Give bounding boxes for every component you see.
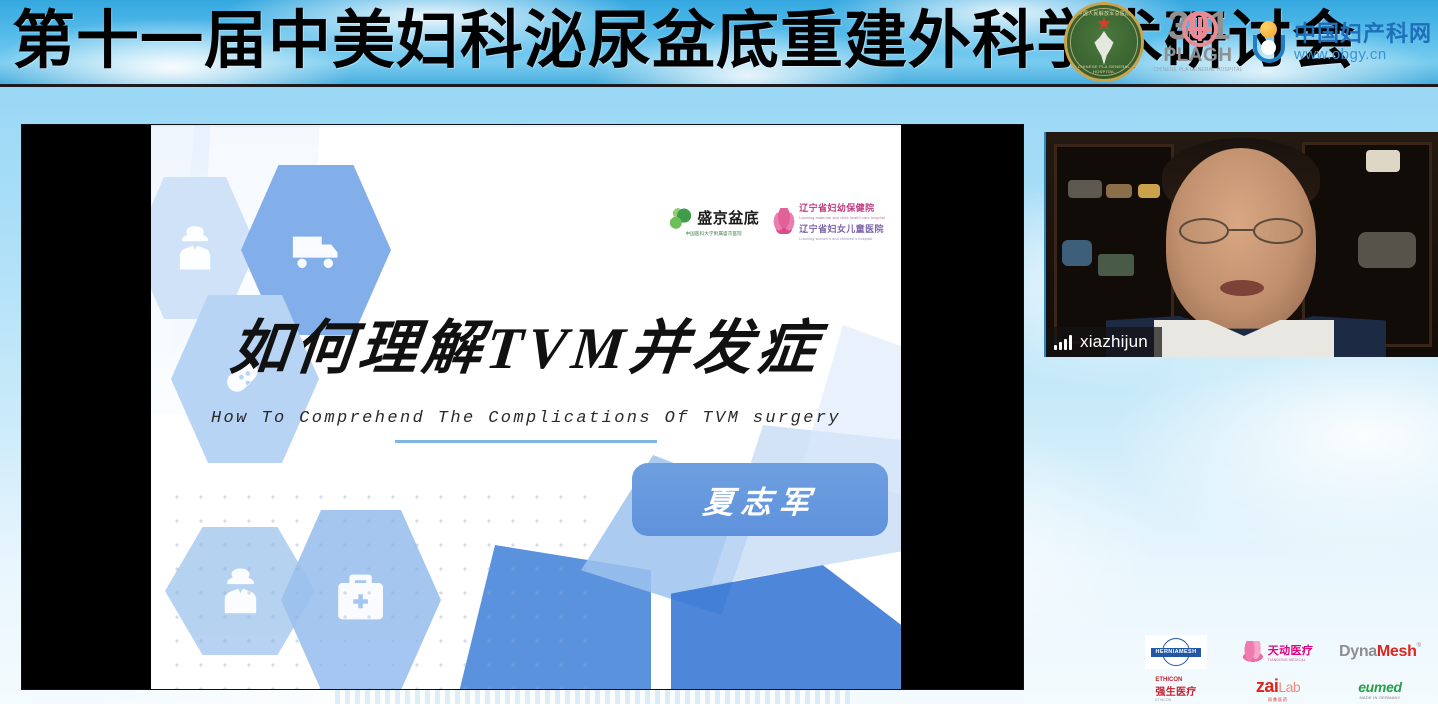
shelf-object-5 <box>1098 254 1134 276</box>
ambulance-icon <box>285 214 348 285</box>
shengjing-name-cn: 盛京盆底 <box>697 207 759 228</box>
presentation-slide[interactable]: 盛京盆底 中国医科大学附属盛京医院 辽宁省妇幼保健院 Liaoning mate… <box>151 125 901 690</box>
obgy-mark-icon <box>1252 19 1290 65</box>
eyeglasses <box>1179 218 1303 244</box>
sponsor-logo-strip: HERNIAMESH 天动医疗 TIANDONG MEDICAL DynaMes… <box>1128 634 1428 704</box>
conference-header-banner: 第十一届中美妇科泌尿盆底重建外科学术研讨会 中国人民解放军总医院 ★ CHINE… <box>0 0 1438 87</box>
shengjing-logo-row: 盛京盆底 <box>668 206 759 230</box>
obgy-name-cn: 中国妇产科网 <box>1294 23 1432 45</box>
liaoning-hospital-logo: 辽宁省妇幼保健院 Liaoning maternal and child hea… <box>773 201 885 241</box>
plagh-301-logo: 301 PLAGH CHINESE PLA GENERAL HOSPITAL <box>1152 5 1244 79</box>
tiandong-sub: TIANDONG MEDICAL <box>1268 658 1314 662</box>
plagh-subtitle: CHINESE PLA GENERAL HOSPITAL <box>1153 67 1242 73</box>
dynamesh-name-right: Mesh <box>1377 643 1417 661</box>
shelf-object-7 <box>1358 232 1416 268</box>
medical-cross-icon <box>1182 11 1218 47</box>
sponsor-herniamesh: HERNIAMESH <box>1145 635 1207 669</box>
zailab-name-left: zai <box>1256 676 1279 696</box>
tiandong-text: 天动医疗 TIANDONG MEDICAL <box>1268 642 1314 662</box>
liaoning-line2-cn: 辽宁省妇女儿童医院 <box>799 222 885 235</box>
shelf-object-4 <box>1062 240 1092 266</box>
dynamesh-name-left: Dyna <box>1339 643 1377 661</box>
tiandong-logo: 天动医疗 TIANDONG MEDICAL <box>1243 641 1314 663</box>
video-scene <box>1046 132 1438 357</box>
shengjing-name-sub: 中国医科大学附属盛京医院 <box>686 231 742 237</box>
person-mouth <box>1220 280 1264 296</box>
slide-title-english: How To Comprehend The Complications Of T… <box>151 409 901 428</box>
glasses-lens-left <box>1179 218 1229 244</box>
herniamesh-logo-icon: HERNIAMESH <box>1145 635 1207 669</box>
participant-name-tag: xiazhijun <box>1046 327 1162 357</box>
sponsor-dynamesh: DynaMesh® <box>1339 643 1421 661</box>
tiandong-name: 天动医疗 <box>1268 642 1314 658</box>
sponsor-zailab: zaiLab 再鼎医药 <box>1256 676 1300 703</box>
sponsor-eumed: eumed MADE IN GERMANY <box>1358 679 1402 700</box>
sponsor-tiandong: 天动医疗 TIANDONG MEDICAL <box>1243 641 1314 663</box>
eumed-name: eumed <box>1358 679 1402 695</box>
participant-name-label: xiazhijun <box>1080 332 1148 352</box>
dot-grid-pattern <box>165 485 595 690</box>
emblem-bottom-text: CHINESE PLA GENERAL HOSPITAL <box>1067 64 1141 74</box>
ethicon-sub: ETHICON <box>1155 698 1196 702</box>
dynamesh-registered-mark: ® <box>1417 643 1421 649</box>
ethicon-text: ETHICON 强生医疗 ETHICON <box>1155 677 1196 702</box>
liaoning-line1-cn: 辽宁省妇幼保健院 <box>799 201 885 214</box>
shelf-object-2 <box>1106 184 1132 198</box>
obgy-text: 中国妇产科网 www.obgy.cn <box>1294 23 1432 62</box>
shelf-object-1 <box>1068 180 1102 198</box>
video-participant-tile[interactable]: xiazhijun <box>1044 132 1438 357</box>
leaf-icon <box>668 206 694 230</box>
slide-title-block: 如何理解TVM并发症 How To Comprehend The Complic… <box>151 313 901 443</box>
red-star-icon: ★ <box>1096 15 1111 32</box>
slide-partner-logos: 盛京盆底 中国医科大学附属盛京医院 辽宁省妇幼保健院 Liaoning mate… <box>668 201 885 241</box>
glasses-lens-right <box>1253 218 1303 244</box>
obgy-logo: 中国妇产科网 www.obgy.cn <box>1252 19 1432 65</box>
dynamesh-wordmark: DynaMesh® <box>1339 643 1421 661</box>
screen-share-stage[interactable]: 盛京盆底 中国医科大学附属盛京医院 辽宁省妇幼保健院 Liaoning mate… <box>21 124 1024 690</box>
title-underline <box>395 440 657 443</box>
shelf-object-6 <box>1366 150 1400 172</box>
sponsor-ethicon: ETHICON 强生医疗 ETHICON <box>1155 677 1196 702</box>
glasses-bridge <box>1229 229 1253 231</box>
doctor-icon <box>169 218 221 278</box>
slide-title-chinese: 如何理解TVM并发症 <box>151 313 901 383</box>
shelf-object-3 <box>1138 184 1160 198</box>
zailab-name-right: Lab <box>1278 679 1300 695</box>
pla-general-hospital-emblem-icon: 中国人民解放军总医院 ★ CHINESE PLA GENERAL HOSPITA… <box>1064 2 1144 82</box>
shengjing-pelvic-logo: 盛京盆底 中国医科大学附属盛京医院 <box>668 206 759 237</box>
signal-bars-icon <box>1054 335 1072 350</box>
zailab-wordmark: zaiLab <box>1256 676 1300 697</box>
eumed-sub: MADE IN GERMANY <box>1359 695 1400 700</box>
obgy-url: www.obgy.cn <box>1294 47 1432 62</box>
herniamesh-label: HERNIAMESH <box>1151 648 1202 657</box>
ethicon-name-cn: 强生医疗 <box>1155 683 1196 698</box>
presenter-name-badge: 夏志军 <box>632 463 888 536</box>
liaoning-text-lines: 辽宁省妇幼保健院 Liaoning maternal and child hea… <box>799 201 885 241</box>
liaoning-line1-en: Liaoning maternal and child health care … <box>799 216 885 220</box>
obgy-inner-shape <box>1261 40 1276 55</box>
ethicon-logo: ETHICON 强生医疗 ETHICON <box>1155 677 1196 702</box>
presenter-name: 夏志军 <box>701 477 819 522</box>
header-logo-group: 中国人民解放军总医院 ★ CHINESE PLA GENERAL HOSPITA… <box>1064 2 1432 82</box>
plagh-wordmark: PLAGH <box>1163 45 1232 67</box>
zailab-sub: 再鼎医药 <box>1268 697 1288 703</box>
butterfly-icon <box>1243 641 1265 663</box>
liaoning-line2-en: Liaoning women's and children's hospital <box>799 237 885 241</box>
flower-icon <box>773 208 795 234</box>
